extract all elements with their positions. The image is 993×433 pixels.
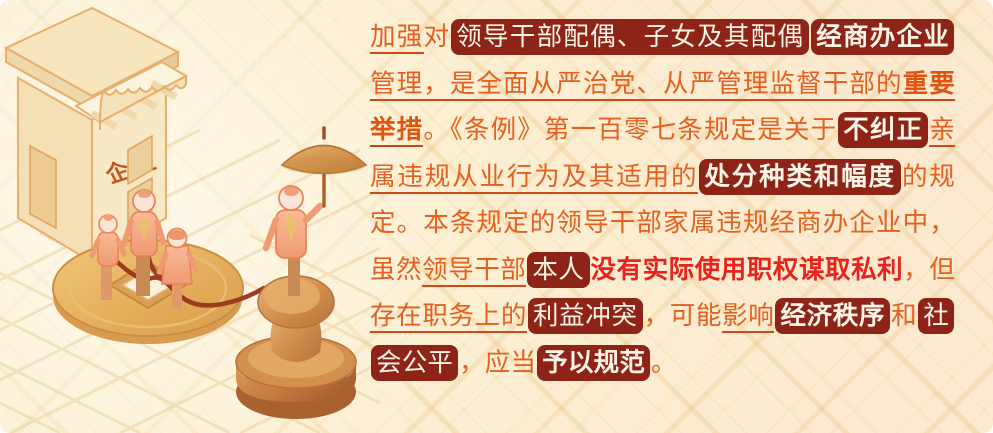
text-run-plain-18: ，可能 bbox=[644, 301, 723, 330]
text-run-plain-23: ，应当 bbox=[459, 348, 536, 377]
text-run-underline-12: 领导干部 bbox=[422, 255, 526, 287]
highlight-pill-shall-regulate: 予以规范 bbox=[537, 345, 650, 381]
text-run-underline-5: 管理，是全面从严治党、从严管理监督干部的 bbox=[370, 69, 903, 101]
illustration-svg: 企业 bbox=[0, 0, 380, 433]
highlight-pill-not-correcting: 不纠正 bbox=[838, 112, 928, 148]
text-run-underline-16: 存在职务上的 bbox=[370, 301, 527, 333]
body-text-block: 加强对领导干部配偶、子女及其配偶经商办企业管理，是全面从严治党、从严管理监督干部… bbox=[370, 14, 955, 386]
figure-official-with-umbrella bbox=[266, 128, 366, 296]
text-run-bold-red-no-abuse: 没有实际使用职权谋取私利 bbox=[591, 255, 904, 284]
highlight-pill-running-business: 经商办企业 bbox=[811, 19, 954, 55]
shop-door bbox=[30, 146, 56, 228]
poster-root: 企业 bbox=[0, 0, 993, 433]
highlight-pill-economic-order: 经济秩序 bbox=[775, 298, 890, 334]
text-run-underline-1: 加强 bbox=[370, 22, 424, 54]
highlight-pill-conflict-of-interest: 利益冲突 bbox=[528, 298, 643, 334]
highlight-pill-himself: 本人 bbox=[527, 252, 589, 288]
text-run-plain-21: 和 bbox=[891, 301, 917, 330]
text-run-underline-19: 影响 bbox=[722, 301, 774, 333]
body-paragraph: 加强对领导干部配偶、子女及其配偶经商办企业管理，是全面从严治党、从严管理监督干部… bbox=[370, 14, 955, 386]
text-run-plain-25: 。 bbox=[651, 348, 677, 377]
chess-pawn-pedestal bbox=[236, 276, 356, 419]
highlight-pill-penalty-types: 处分种类和幅度 bbox=[699, 159, 901, 195]
highlight-pill-leaders-family: 领导干部配偶、子女及其配偶 bbox=[451, 19, 809, 55]
text-run-plain-15: ，但 bbox=[903, 255, 955, 284]
text-run-plain-7: 。《条例》第一百零七条规定是关于 bbox=[423, 115, 837, 144]
text-run-plain-2: 对 bbox=[424, 22, 451, 51]
isometric-illustration: 企业 bbox=[0, 0, 380, 433]
